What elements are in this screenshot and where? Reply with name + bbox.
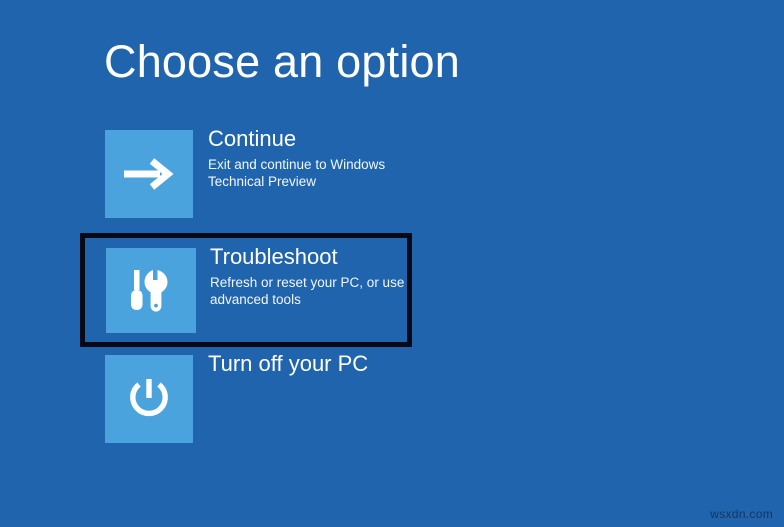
troubleshoot-text-block: Troubleshoot Refresh or reset your PC, o… [210, 243, 446, 309]
screwdriver-wrench-icon [127, 268, 175, 314]
troubleshoot-description: Refresh or reset your PC, or use advance… [210, 274, 446, 310]
turn-off-pc-text-block: Turn off your PC [208, 350, 368, 381]
continue-description: Exit and continue to Windows Technical P… [208, 156, 444, 192]
option-troubleshoot[interactable]: Troubleshoot Refresh or reset your PC, o… [106, 248, 446, 333]
continue-text-block: Continue Exit and continue to Windows Te… [208, 125, 444, 191]
continue-tile[interactable] [105, 130, 193, 218]
turn-off-pc-tile[interactable] [105, 355, 193, 443]
troubleshoot-tile[interactable] [106, 248, 196, 333]
watermark: wsxdn.com [710, 507, 773, 521]
option-continue[interactable]: Continue Exit and continue to Windows Te… [105, 130, 444, 218]
troubleshoot-title: Troubleshoot [210, 243, 446, 271]
page-title: Choose an option [104, 36, 460, 88]
power-icon [123, 373, 175, 425]
recovery-options-screen: Choose an option Continue Exit and conti… [0, 0, 784, 527]
turn-off-pc-title: Turn off your PC [208, 350, 368, 378]
arrow-right-icon [122, 154, 176, 194]
continue-title: Continue [208, 125, 444, 153]
option-turn-off-pc[interactable]: Turn off your PC [105, 355, 368, 443]
